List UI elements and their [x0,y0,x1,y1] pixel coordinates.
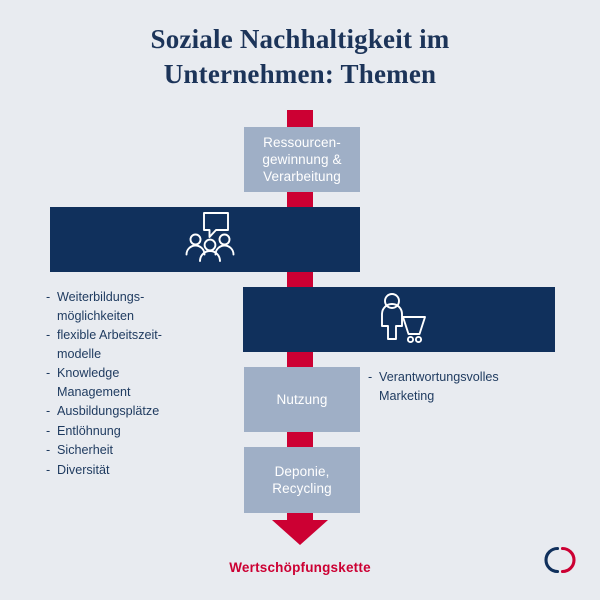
chain-stage-label: Ressourcen- gewinnung & Verarbeitung [262,134,341,185]
list-item: Sicherheit [46,441,221,460]
interlocking-circles-logo [538,538,582,582]
people-group-speech-bubble-icon [184,209,236,267]
chain-stage-label: Nutzung [277,391,328,408]
chain-stage-deponie-recycling[interactable]: Deponie, Recycling [244,447,360,513]
page-title-line-1: Soziale Nachhaltigkeit im [0,22,600,57]
chain-stage-ressourcengewinnung[interactable]: Ressourcen- gewinnung & Verarbeitung [244,127,360,192]
value-chain-arrow-icon [268,513,332,545]
infographic-canvas: Soziale Nachhaltigkeit im Unternehmen: T… [0,0,600,600]
chain-stage-nutzung[interactable]: Nutzung [244,367,360,432]
list-item: Knowledge Management [46,364,221,401]
value-chain-footer-label: Wertschöpfungskette [0,560,600,575]
list-item: Ausbildungsplätze [46,402,221,421]
chain-stage-label: Deponie, Recycling [272,463,331,497]
list-item: Diversität [46,461,221,480]
page-title-line-2: Unternehmen: Themen [0,57,600,92]
topics-list-kundinnen: Verantwortungsvolles Marketing [368,368,553,406]
list-item: Verantwortungsvolles Marketing [368,368,553,405]
page-title: Soziale Nachhaltigkeit im Unternehmen: T… [0,22,600,92]
person-shopping-cart-icon [374,290,428,348]
list-item: Weiterbildungs- möglichkeiten [46,288,221,325]
topics-list-mitarbeitende: Weiterbildungs- möglichkeiten flexible A… [46,288,221,480]
list-item: flexible Arbeitszeit- modelle [46,326,221,363]
list-item: Entlöhnung [46,422,221,441]
